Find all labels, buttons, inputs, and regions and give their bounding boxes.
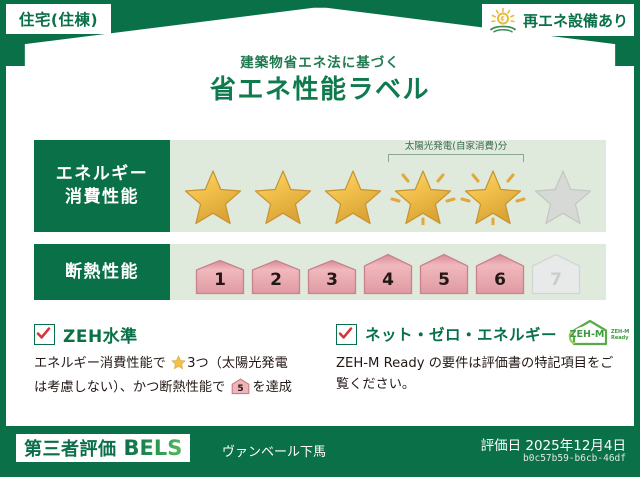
- svg-text:ZEH-M: ZEH-M: [570, 329, 605, 340]
- house-type-badge: 住宅(住棟): [6, 4, 111, 34]
- insulation-grade-group: 1234567: [170, 244, 606, 300]
- check-icon: [336, 324, 357, 345]
- insulation-grade-number: 5: [418, 270, 471, 290]
- svg-text:5: 5: [238, 384, 244, 394]
- insulation-grade-7-inactive: 7: [530, 253, 583, 295]
- zeh-m-ready-logo: ZEH-M ZEH-M Ready: [567, 318, 633, 350]
- energy-performance-row-label: エネルギー 消費性能: [34, 140, 170, 232]
- bels-third-party-label: 第三者評価: [24, 435, 117, 461]
- insulation-grade-4-active: 4: [362, 253, 415, 295]
- panel-content: 建築物省エネ法に基づく 省エネ性能ラベル エネルギー 消費性能 太陽光発電(自家…: [6, 4, 634, 426]
- check-icon: [34, 324, 55, 345]
- insulation-grade-5-active: 5: [418, 253, 471, 295]
- star-6-empty: [529, 163, 597, 225]
- evaluation-id: b0c57b59-b6cb-46df: [523, 453, 626, 464]
- zeh-standard-title: ZEH水準: [63, 322, 138, 347]
- zeh-body-star-count: 3つ（太陽光発電: [187, 356, 288, 371]
- insulation-grade-2-active: 2: [250, 259, 303, 295]
- energy-performance-label: 住宅(住棟) 再エネ設備あり: [0, 0, 640, 477]
- page-title: 省エネ性能ラベル: [6, 76, 634, 105]
- insulation-grade-3-active: 3: [306, 259, 359, 295]
- insulation-grade-6-active: 6: [474, 253, 527, 295]
- insulation-grade-number: 7: [530, 270, 583, 290]
- zeh-body-part1: エネルギー消費性能で: [34, 356, 166, 371]
- energy-label-line2: 消費性能: [65, 186, 139, 209]
- renewable-badge-label: 再エネ設備あり: [523, 10, 628, 31]
- bels-certification-box: 第三者評価 BELS: [16, 434, 190, 462]
- energy-label-line1: エネルギー: [56, 163, 149, 186]
- star-1-filled: [179, 163, 247, 225]
- renewable-equipment-badge: 再エネ設備あり: [482, 4, 634, 36]
- net-zero-energy-body: ZEH-M Ready の要件は評価書の特記項目をご覧ください。: [336, 353, 622, 396]
- bels-logo-text: BELS: [124, 436, 183, 460]
- evaluation-date: 評価日 2025年12月4日: [481, 434, 626, 454]
- star-2-filled: [249, 163, 317, 225]
- insulation-performance-row-body: 1234567: [170, 244, 606, 300]
- zeh-standard-section: ZEH水準 エネルギー消費性能で 3つ（太陽光発電 は考慮しない）、かつ断熱性能…: [34, 322, 320, 403]
- inline-star-icon: [167, 359, 186, 374]
- house-type-badge-label: 住宅(住棟): [19, 8, 98, 30]
- property-name: ヴァンベール下馬: [222, 441, 326, 460]
- insulation-grade-number: 4: [362, 270, 415, 290]
- zeh-body-part2: は考慮しない）、かつ断熱性能で: [34, 380, 225, 395]
- svg-text:Ready: Ready: [611, 335, 629, 341]
- footer-bar: 第三者評価 BELS ヴァンベール下馬 評価日 2025年12月4日 b0c57…: [0, 426, 640, 477]
- star-3-filled: [319, 163, 387, 225]
- net-zero-energy-section: ネット・ゼロ・エネルギー ZEH-M ZEH-M Ready ZEH-M Rea…: [336, 322, 622, 396]
- star-4-filled: [389, 163, 457, 225]
- label-title-block: 建築物省エネ法に基づく 省エネ性能ラベル: [6, 56, 634, 104]
- net-zero-energy-heading: ネット・ゼロ・エネルギー ZEH-M ZEH-M Ready: [336, 322, 622, 346]
- insulation-grade-number: 2: [250, 270, 303, 290]
- sun-solar-icon: [488, 7, 518, 33]
- insulation-performance-row: 断熱性能 1234567: [34, 244, 606, 300]
- star-5-filled: [459, 163, 527, 225]
- zeh-standard-heading: ZEH水準: [34, 322, 320, 346]
- insulation-grade-1-active: 1: [194, 259, 247, 295]
- zeh-standard-body: エネルギー消費性能で 3つ（太陽光発電 は考慮しない）、かつ断熱性能で 5 を達…: [34, 353, 320, 403]
- energy-performance-row-body: 太陽光発電(自家消費)分: [170, 140, 606, 232]
- insulation-performance-row-label: 断熱性能: [34, 244, 170, 300]
- title-subtitle: 建築物省エネ法に基づく: [6, 56, 634, 71]
- star-rating-group: [170, 147, 606, 225]
- energy-performance-row: エネルギー 消費性能 太陽光発電(自家消費)分: [34, 140, 606, 232]
- insulation-grade-number: 3: [306, 270, 359, 290]
- net-zero-energy-title: ネット・ゼロ・エネルギー: [365, 323, 557, 345]
- inline-grade-badge: 5: [227, 384, 250, 399]
- insulation-grade-number: 1: [194, 270, 247, 290]
- insulation-grade-number: 6: [474, 270, 527, 290]
- zeh-body-part3: を達成: [252, 380, 292, 395]
